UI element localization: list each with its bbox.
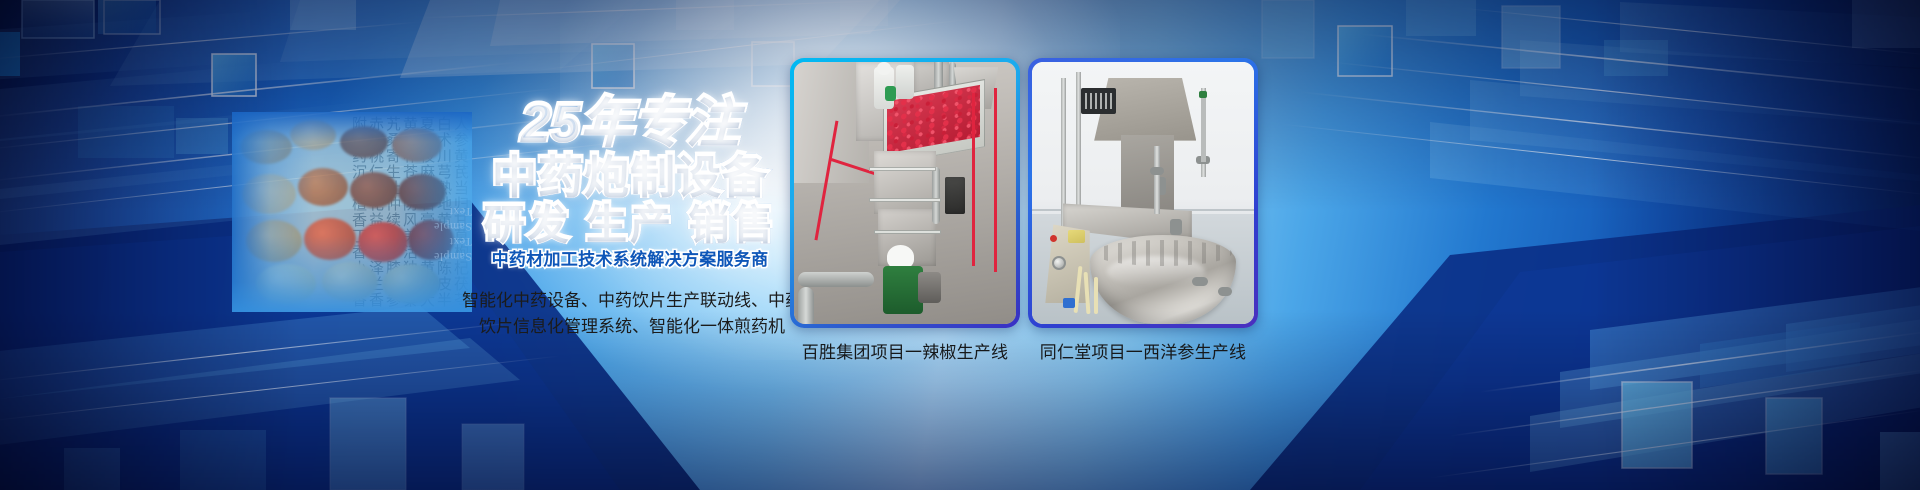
- headline-line-2: 中药炮制设备: [470, 153, 790, 199]
- photo-card-chili: 百胜集团项目一辣椒生产线: [790, 58, 1020, 363]
- herbal-medicine-collage: 人参黄芪当归甘草枸杞茯苓白术川芎熟地黄柴胡陈皮半夏桂枝麻黄石膏知母黄连大黄厚朴苍…: [232, 112, 472, 312]
- product-description: 智能化中药设备、中药饮片生产联动线、中药饮片信息化管理系统、智能化一体煎药机: [462, 288, 802, 340]
- background-right-shade: [1590, 0, 1920, 490]
- photo-frame-ginseng: [1028, 58, 1258, 328]
- photo-caption-ginseng: 同仁堂项目一西洋参生产线: [1028, 338, 1258, 363]
- photo-caption-chili: 百胜集团项目一辣椒生产线: [790, 338, 1020, 363]
- photo-card-ginseng: 同仁堂项目一西洋参生产线: [1028, 58, 1258, 363]
- headline-line-1: 25年专注: [470, 96, 790, 150]
- headline-line-3: 研发 生产 销售: [470, 203, 790, 245]
- sample-text-watermark: Sample Text Sample Text: [410, 204, 472, 264]
- headline-block: 25年专注 中药炮制设备 研发 生产 销售 中药材加工技术系统解决方案服务商: [470, 96, 790, 268]
- photo-image-chili: [794, 62, 1016, 324]
- photo-image-ginseng: [1032, 62, 1254, 324]
- promo-banner: 人参黄芪当归甘草枸杞茯苓白术川芎熟地黄柴胡陈皮半夏桂枝麻黄石膏知母黄连大黄厚朴苍…: [0, 0, 1920, 490]
- photo-frame-chili: [790, 58, 1020, 328]
- headline-line-4: 中药材加工技术系统解决方案服务商: [470, 251, 790, 268]
